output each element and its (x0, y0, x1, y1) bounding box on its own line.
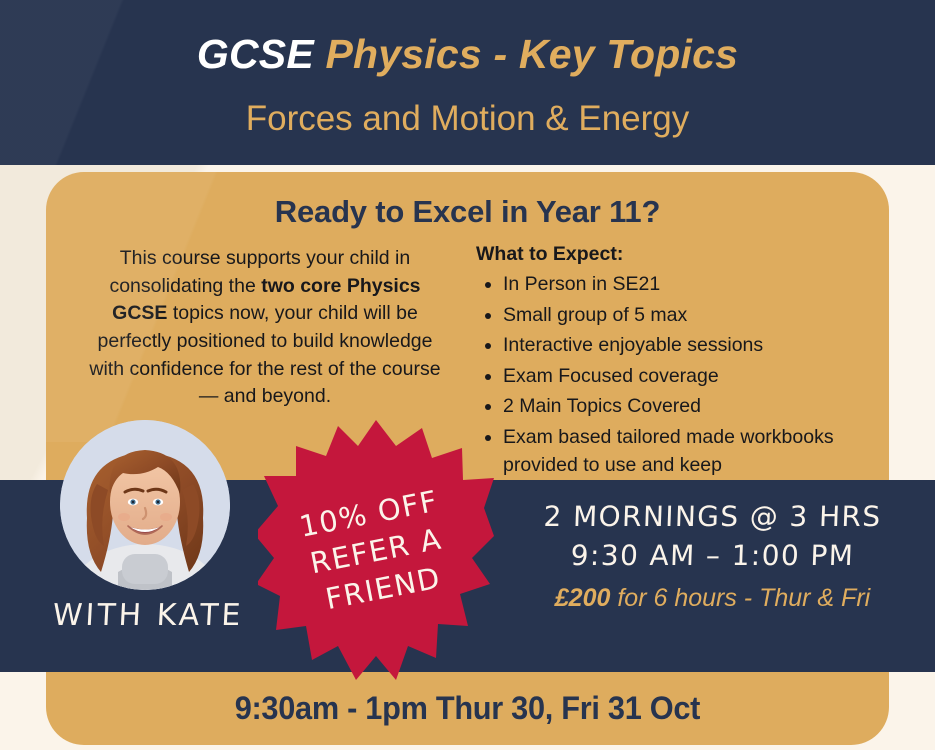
starburst-shape (258, 420, 494, 680)
expectations-block: What to Expect: In Person in SE21 Small … (476, 240, 888, 482)
page-title: GCSE Physics - Key Topics (197, 34, 738, 75)
list-item: Interactive enjoyable sessions (503, 331, 888, 361)
session-times: 9:30 AM – 1:00 PM (499, 537, 925, 576)
header-band: GCSE Physics - Key Topics Forces and Mot… (0, 0, 935, 165)
list-item: Exam Focused coverage (503, 362, 888, 392)
page-subtitle: Forces and Motion & Energy (246, 101, 690, 136)
expectations-title: What to Expect: (476, 240, 888, 268)
session-price: £200 for 6 hours - Thur & Fri (500, 584, 925, 613)
footer-dates-bar: 9:30am - 1pm Thur 30, Fri 31 Oct (46, 672, 889, 745)
list-item: Exam based tailored made workbooks provi… (503, 423, 888, 482)
avatar (60, 420, 230, 590)
price-amount: £200 (555, 584, 611, 612)
session-details: 2 MORNINGS @ 3 HRS 9:30 AM – 1:00 PM £20… (500, 498, 925, 613)
flyer-canvas: GCSE Physics - Key Topics Forces and Mot… (0, 0, 935, 750)
intro-paragraph: This course supports your child in conso… (80, 245, 450, 411)
title-rest: Physics - Key Topics (314, 31, 738, 77)
list-item: Small group of 5 max (503, 301, 888, 331)
price-detail: for 6 hours - Thur & Fri (610, 584, 870, 612)
expectations-list: In Person in SE21 Small group of 5 max I… (476, 270, 888, 481)
tutor-name-label: WITH KATE (17, 598, 279, 633)
list-item: In Person in SE21 (503, 270, 888, 300)
discount-badge: 10% OFF REFER A FRIEND (258, 418, 494, 684)
title-brand: GCSE (197, 31, 314, 77)
footer-dates: 9:30am - 1pm Thur 30, Fri 31 Oct (235, 690, 700, 727)
list-item: 2 Main Topics Covered (503, 392, 888, 422)
session-duration: 2 MORNINGS @ 3 HRS (499, 498, 925, 537)
card-headline: Ready to Excel in Year 11? (46, 194, 889, 230)
